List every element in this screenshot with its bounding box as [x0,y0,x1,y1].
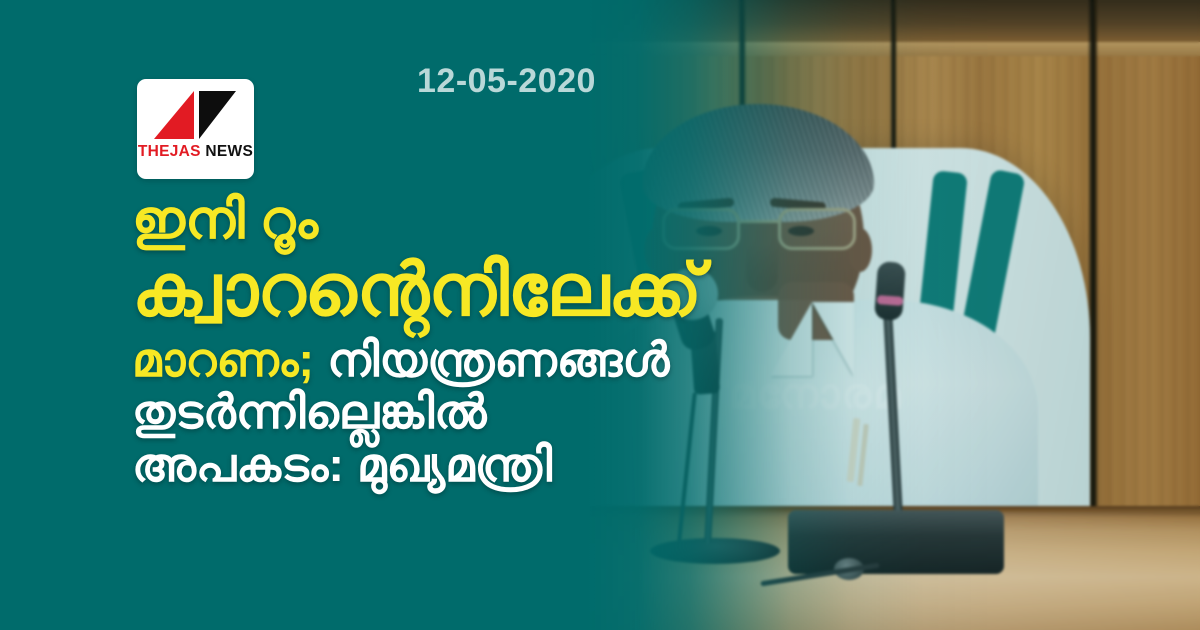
logo-word-thejas: THEJAS [138,143,201,160]
logo-red-triangle-icon [154,91,194,139]
headline-line-4: തുടർന്നില്ലെങ്കിൽ [132,388,702,436]
microphone-console-base [788,510,1004,574]
headline-block: ഇനി റൂം ക്വാറന്റെനിലേക്ക് മാറണം; നിയന്ത്… [132,193,702,489]
headline-line-3: മാറണം; നിയന്ത്രണങ്ങൾ [132,336,702,384]
headline-line-5: അപകടം: മുഖ്യമന്ത്രി [132,441,702,489]
headline-line-2: ക്വാറന്റെനിലേക്ക് [132,253,702,328]
logo-black-triangle-icon [199,91,236,139]
headline-line-3-highlight: മാറണം; [132,333,314,386]
logo-wordmark: THEJAS NEWS [137,143,254,161]
lens-right [778,208,856,250]
microphone-stand-base-left [650,538,780,564]
news-card-canvas: മനോരമ [0,0,1200,630]
headline-line-1: ഇനി റൂം [132,193,702,249]
logo-mark-icon [137,79,254,141]
thejas-news-logo[interactable]: THEJAS NEWS [137,79,254,179]
microphone-indicator-ring [877,295,904,306]
headline-line-3-rest: നിയന്ത്രണങ്ങൾ [327,333,669,386]
glasses-bridge [740,220,780,223]
nose [746,244,778,292]
publish-date: 12-05-2020 [417,62,596,101]
microphone-head-right [874,261,906,321]
logo-word-news: NEWS [205,143,253,160]
